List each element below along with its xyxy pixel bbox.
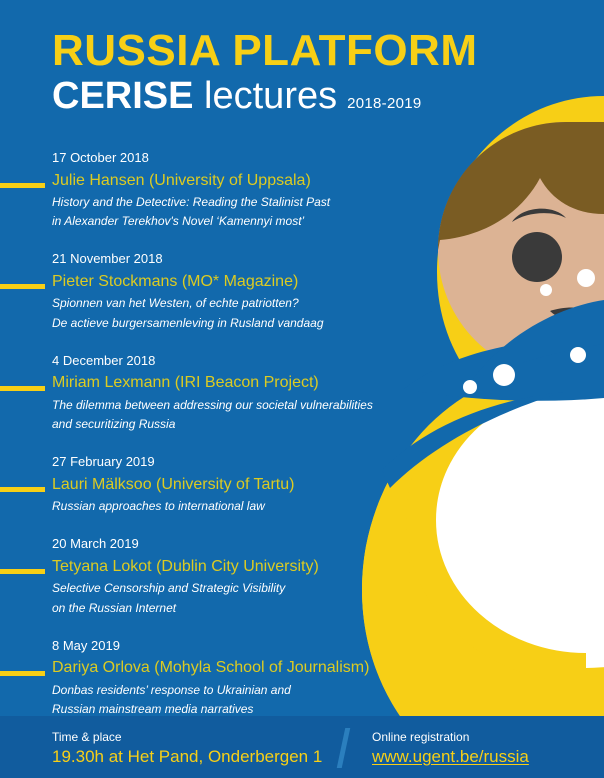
bullet-dash-icon bbox=[0, 284, 45, 289]
apron-shape bbox=[421, 372, 604, 668]
scarf-dot bbox=[463, 380, 477, 394]
lecture-speaker: Julie Hansen (University of Uppsala) bbox=[52, 169, 400, 192]
season-years: 2018-2019 bbox=[347, 95, 421, 112]
registration-label: Online registration bbox=[372, 729, 529, 745]
list-item: 27 February 2019 Lauri Mälksoo (Universi… bbox=[0, 452, 400, 515]
scarf-dot bbox=[540, 284, 552, 296]
scarf-dot bbox=[570, 347, 586, 363]
lecture-topic-line: History and the Detective: Reading the S… bbox=[52, 194, 400, 211]
lecture-date: 27 February 2019 bbox=[52, 452, 400, 472]
lecture-date: 4 December 2018 bbox=[52, 351, 400, 371]
time-place-block: Time & place 19.30h at Het Pand, Onderbe… bbox=[52, 729, 322, 768]
registration-link[interactable]: www.ugent.be/russia bbox=[372, 746, 529, 768]
time-place-label: Time & place bbox=[52, 729, 322, 745]
lecture-topic-line: The dilemma between addressing our socie… bbox=[52, 397, 400, 414]
lecture-date: 8 May 2019 bbox=[52, 636, 400, 656]
list-item: 20 March 2019 Tetyana Lokot (Dublin City… bbox=[0, 534, 400, 616]
scarf-dot bbox=[493, 364, 515, 386]
subtitle-light: lectures bbox=[204, 75, 337, 117]
list-item: 21 November 2018 Pieter Stockmans (MO* M… bbox=[0, 249, 400, 331]
lecture-date: 21 November 2018 bbox=[52, 249, 400, 269]
lecture-topic-line: De actieve burgersamenleving in Rusland … bbox=[52, 315, 400, 332]
bullet-dash-icon bbox=[0, 183, 45, 188]
poster-footer: Time & place 19.30h at Het Pand, Onderbe… bbox=[0, 716, 604, 778]
lecture-topic-line: in Alexander Terekhov's Novel ‘Kamennyi … bbox=[52, 213, 400, 230]
lecture-topic-line: and securitizing Russia bbox=[52, 416, 400, 433]
page-subtitle: CERISE lectures bbox=[52, 77, 337, 117]
subtitle-bold: CERISE bbox=[52, 75, 193, 117]
subtitle-row: CERISE lectures 2018-2019 bbox=[52, 77, 482, 117]
lecture-topic-line: on the Russian Internet bbox=[52, 600, 400, 617]
poster-header: RUSSIA PLATFORM CERISE lectures 2018-201… bbox=[52, 28, 482, 117]
bullet-dash-icon bbox=[0, 386, 45, 391]
apron-rim-lower bbox=[421, 520, 586, 668]
lecture-speaker: Tetyana Lokot (Dublin City University) bbox=[52, 555, 400, 578]
face-shape bbox=[438, 122, 604, 378]
registration-block: Online registration www.ugent.be/russia bbox=[372, 729, 529, 768]
list-item: 8 May 2019 Dariya Orlova (Mohyla School … bbox=[0, 636, 400, 718]
lecture-speaker: Dariya Orlova (Mohyla School of Journali… bbox=[52, 656, 400, 679]
apron-rim bbox=[421, 372, 586, 520]
lecture-topic-line: Spionnen van het Westen, of echte patrio… bbox=[52, 295, 400, 312]
mouth-shape bbox=[550, 307, 604, 330]
collar-shape bbox=[472, 300, 604, 380]
lecture-topic-line: Russian approaches to international law bbox=[52, 498, 400, 515]
apron-shadow-swoosh bbox=[382, 392, 564, 488]
scarf-leaf-shape bbox=[404, 340, 604, 401]
scarf-dot bbox=[577, 269, 595, 287]
lecture-speaker: Lauri Mälksoo (University of Tartu) bbox=[52, 473, 400, 496]
list-item: 17 October 2018 Julie Hansen (University… bbox=[0, 148, 400, 230]
lecture-list: 17 October 2018 Julie Hansen (University… bbox=[0, 148, 400, 718]
lecture-speaker: Miriam Lexmann (IRI Beacon Project) bbox=[52, 371, 400, 394]
time-place-value: 19.30h at Het Pand, Onderbergen 1 bbox=[52, 746, 322, 768]
lecture-date: 20 March 2019 bbox=[52, 534, 400, 554]
lecture-topic-line: Selective Censorship and Strategic Visib… bbox=[52, 580, 400, 597]
footer-divider-slash bbox=[337, 728, 351, 768]
eyebrow-shape bbox=[512, 209, 566, 222]
eye-shape bbox=[512, 232, 562, 282]
page-title: RUSSIA PLATFORM bbox=[52, 28, 482, 74]
bullet-dash-icon bbox=[0, 569, 45, 574]
lecture-date: 17 October 2018 bbox=[52, 148, 400, 168]
bullet-dash-icon bbox=[0, 487, 45, 492]
list-item: 4 December 2018 Miriam Lexmann (IRI Beac… bbox=[0, 351, 400, 433]
lecture-speaker: Pieter Stockmans (MO* Magazine) bbox=[52, 270, 400, 293]
poster: RUSSIA PLATFORM CERISE lectures 2018-201… bbox=[0, 0, 604, 778]
hair-shape bbox=[438, 122, 604, 250]
lecture-topic-line: Donbas residents’ response to Ukrainian … bbox=[52, 682, 400, 699]
bullet-dash-icon bbox=[0, 671, 45, 676]
